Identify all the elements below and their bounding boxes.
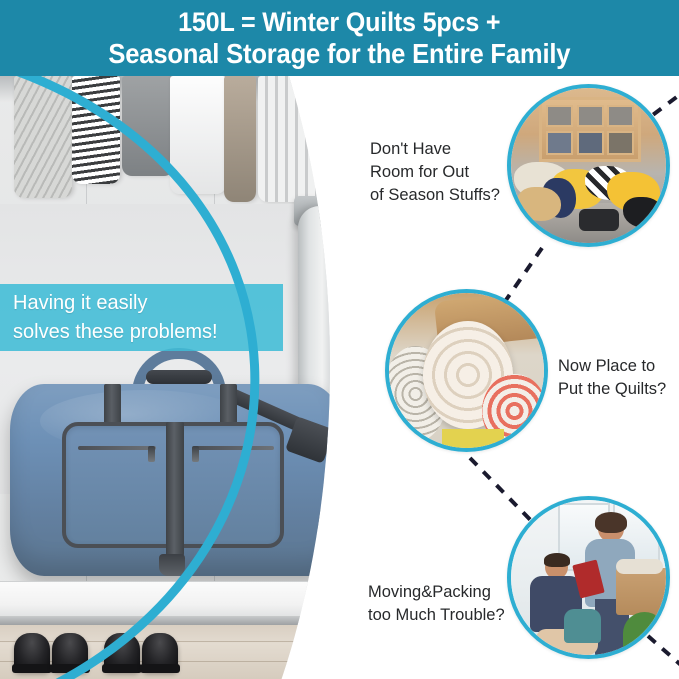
bag-handle-grip (146, 370, 212, 384)
header-title-line-1: 150L = Winter Quilts 5pcs + (178, 7, 500, 38)
cardboard-box (616, 568, 669, 615)
armchair (564, 609, 601, 643)
callout-line-1: Don't Have (370, 138, 500, 161)
clothes-pile (579, 209, 619, 231)
closet-shelving (539, 97, 641, 162)
callout-place-for-quilts: Now Place to Put the Quilts? (558, 355, 666, 401)
garment-beige-coat (224, 76, 256, 202)
shoe (52, 633, 88, 671)
shoe (104, 633, 140, 671)
callout-moving-packing: Moving&Packing too Much Trouble? (368, 581, 505, 627)
overlay-banner-line-1: Having it easily (13, 289, 283, 318)
bag-center-strap (166, 422, 184, 556)
shoe (142, 633, 178, 671)
photo-messy-closet (507, 84, 670, 247)
callout-line-2: Room for Out (370, 161, 500, 184)
overlay-banner-line-2: solves these problems! (13, 318, 283, 347)
house-plant (623, 612, 666, 655)
quilt-bottom (442, 429, 504, 448)
callout-line-1: Moving&Packing (368, 581, 505, 604)
man-hair (544, 553, 570, 567)
bag-zipper-right (196, 446, 274, 450)
garment-striped-shirt (72, 76, 120, 184)
callout-line-2: too Much Trouble? (368, 604, 505, 627)
shoe (14, 633, 50, 671)
callout-line-1: Now Place to (558, 355, 666, 378)
callout-line-3: of Season Stuffs? (370, 184, 500, 207)
callout-out-of-season: Don't Have Room for Out of Season Stuffs… (370, 138, 500, 207)
header-title-line-2: Seasonal Storage for the Entire Family (109, 38, 571, 69)
bag-zipper-pull-right (192, 446, 199, 462)
hanging-clothes-rail (0, 76, 352, 204)
bag-zipper-pull-left (148, 446, 155, 462)
woman-hair (595, 512, 628, 532)
closet-shelf-lip (0, 616, 352, 625)
bag-bottom-zipper-pull (159, 554, 185, 576)
garment-white-shirt (170, 76, 226, 194)
bag-zipper-left (78, 446, 156, 450)
clothes-pile (623, 197, 663, 228)
pillow-in-box (616, 559, 663, 575)
photo-rolled-quilts (385, 289, 548, 452)
callout-line-2: Put the Quilts? (558, 378, 666, 401)
garment-pleated-skirt (258, 76, 320, 202)
product-infographic: 150L = Winter Quilts 5pcs + Seasonal Sto… (0, 0, 679, 679)
overlay-banner: Having it easily solves these problems! (0, 284, 283, 351)
right-content-panel: Don't Have Room for Out of Season Stuffs… (330, 76, 679, 679)
photo-couple-moving-boxes (507, 496, 670, 659)
garment-patterned-blouse (14, 76, 72, 198)
left-photo-clip: Having it easily solves these problems! (0, 76, 352, 679)
left-photo-panel: Having it easily solves these problems! (0, 76, 352, 679)
garment-grey-top (122, 76, 174, 176)
header-banner: 150L = Winter Quilts 5pcs + Seasonal Sto… (0, 0, 679, 76)
duffel-bag (4, 336, 352, 596)
